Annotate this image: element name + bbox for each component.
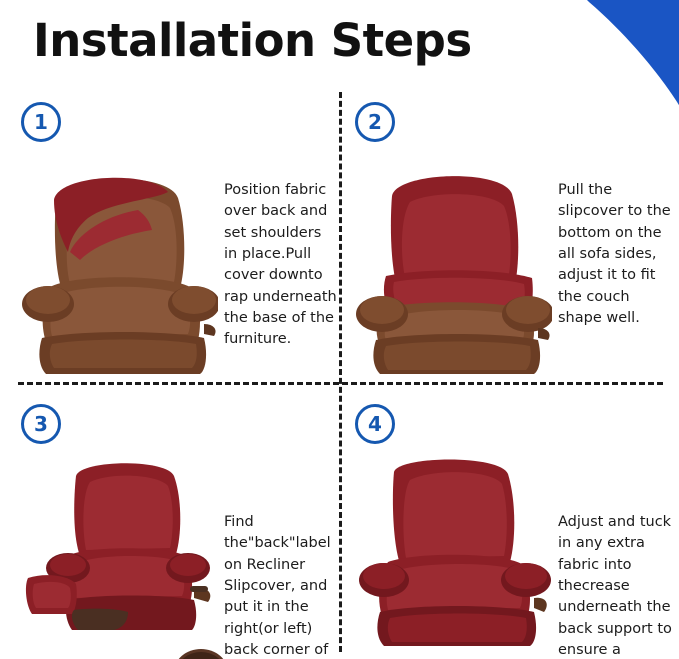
step-body: Pull the slipcover to the bottom on the … [352, 148, 672, 378]
step-body: BACK Find the"back"label on Recliner Sli… [18, 450, 338, 659]
step-number-badge: 1 [21, 102, 61, 142]
recliner-fully-covered-red-finished-icon [352, 450, 552, 650]
step-number-badge: 4 [355, 404, 395, 444]
step-4-illustration [352, 450, 552, 650]
recliner-brown-with-red-slipcover-pulled-over-back-and-arms-icon [352, 148, 552, 378]
recliner-brown-with-red-fabric-draped-over-back-icon [18, 148, 218, 378]
corner-swoosh-decoration [529, 0, 679, 105]
step-4: 4 [352, 402, 672, 652]
horizontal-divider [18, 382, 663, 385]
step-number-badge: 2 [355, 102, 395, 142]
step-3-illustration: BACK [18, 450, 218, 650]
step-body: Position fabric over back and set should… [18, 148, 338, 378]
step-4-caption: Adjust and tuck in any extra fabric into… [552, 450, 672, 659]
vertical-divider [339, 92, 342, 652]
step-body: Adjust and tuck in any extra fabric into… [352, 450, 672, 659]
step-1: 1 [18, 100, 338, 378]
step-number-badge: 3 [21, 404, 61, 444]
recliner-fully-covered-red-with-footrest-extended-icon [18, 450, 218, 650]
step-2-caption: Pull the slipcover to the bottom on the … [552, 148, 672, 329]
page-title: Installation Steps [33, 14, 472, 67]
installation-steps-page: Installation Steps 1 [0, 0, 679, 659]
step-2: 2 [352, 100, 672, 378]
step-1-caption: Position fabric over back and set should… [218, 148, 338, 351]
step-3-caption: Find the"back"label on Recliner Slipcove… [218, 450, 338, 659]
step-1-illustration [18, 148, 218, 378]
back-label-callout: BACK [173, 648, 229, 659]
step-2-illustration [352, 148, 552, 378]
step-3: 3 [18, 402, 338, 652]
